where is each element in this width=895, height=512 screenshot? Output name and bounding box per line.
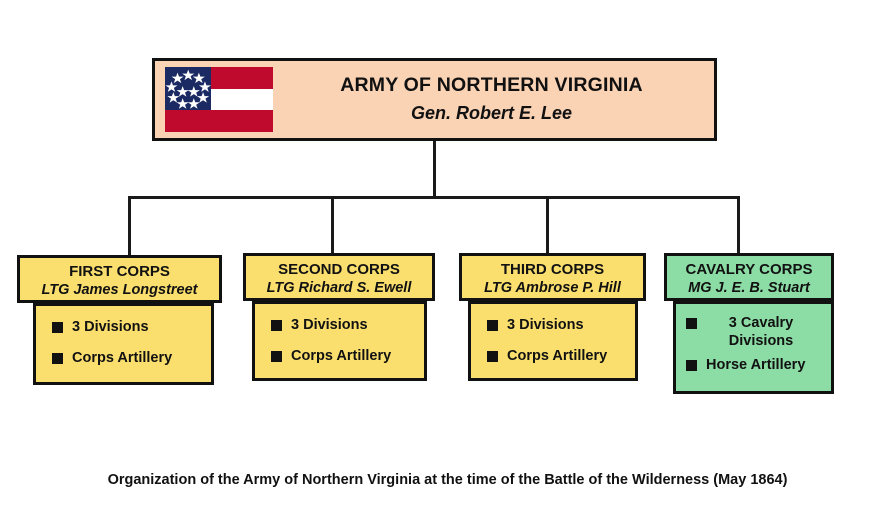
unit-header-second-corps[interactable]: SECOND CORPS LTG Richard S. Ewell (243, 253, 435, 301)
list-item: 3 Divisions (42, 318, 205, 336)
bullet-square-icon (487, 351, 498, 362)
unit-body-third-corps[interactable]: 3 Divisions Corps Artillery (468, 301, 638, 381)
list-item-label: Corps Artillery (507, 347, 607, 365)
org-chart: ARMY OF NORTHERN VIRGINIA Gen. Robert E.… (0, 0, 895, 512)
army-commander: Gen. Robert E. Lee (277, 102, 706, 126)
list-item-label: 3 Divisions (291, 316, 368, 334)
connector-root-stem (433, 141, 436, 199)
unit-header-third-corps[interactable]: THIRD CORPS LTG Ambrose P. Hill (459, 253, 646, 301)
unit-header-first-corps[interactable]: FIRST CORPS LTG James Longstreet (17, 255, 222, 303)
connector-drop-second-corps (331, 196, 334, 256)
unit-name: FIRST CORPS (24, 263, 215, 281)
chart-caption: Organization of the Army of Northern Vir… (0, 472, 895, 488)
unit-name: CAVALRY CORPS (671, 261, 827, 279)
unit-body-first-corps[interactable]: 3 Divisions Corps Artillery (33, 303, 214, 385)
unit-commander: LTG Richard S. Ewell (250, 280, 428, 298)
unit-name: SECOND CORPS (250, 261, 428, 279)
connector-horizontal-bus (128, 196, 740, 199)
unit-header-cavalry-corps[interactable]: CAVALRY CORPS MG J. E. B. Stuart (664, 253, 834, 301)
connector-drop-third-corps (546, 196, 549, 256)
list-item-label: 3 Divisions (72, 318, 149, 336)
list-item-label: Corps Artillery (291, 347, 391, 365)
list-item-label: Horse Artillery (706, 356, 805, 374)
bullet-square-icon (52, 353, 63, 364)
bullet-square-icon (686, 318, 697, 329)
bullet-square-icon (686, 360, 697, 371)
unit-commander: LTG Ambrose P. Hill (466, 280, 639, 298)
bullet-square-icon (52, 322, 63, 333)
connector-drop-cavalry-corps (737, 196, 740, 256)
list-item-label: 3 Cavalry Divisions (706, 314, 816, 350)
unit-commander: MG J. E. B. Stuart (671, 280, 827, 298)
unit-body-cavalry-corps[interactable]: 3 Cavalry Divisions Horse Artillery (673, 301, 834, 394)
unit-body-second-corps[interactable]: 3 Divisions Corps Artillery (252, 301, 427, 381)
connector-drop-first-corps (128, 196, 131, 256)
list-item: Corps Artillery (261, 347, 418, 365)
list-item: 3 Divisions (261, 316, 418, 334)
list-item: Corps Artillery (477, 347, 629, 365)
bullet-square-icon (271, 351, 282, 362)
list-item: 3 Divisions (477, 316, 629, 334)
bullet-square-icon (487, 320, 498, 331)
army-title: ARMY OF NORTHERN VIRGINIA (277, 73, 706, 99)
army-root-text: ARMY OF NORTHERN VIRGINIA Gen. Robert E.… (273, 73, 714, 125)
list-item-label: 3 Divisions (507, 316, 584, 334)
list-item: 3 Cavalry Divisions (682, 314, 825, 350)
unit-name: THIRD CORPS (466, 261, 639, 279)
bullet-square-icon (271, 320, 282, 331)
list-item-label: Corps Artillery (72, 349, 172, 367)
confederate-stars-and-bars-flag-icon (165, 67, 273, 132)
flag-canton (165, 67, 211, 110)
list-item: Corps Artillery (42, 349, 205, 367)
list-item: Horse Artillery (682, 356, 825, 374)
unit-commander: LTG James Longstreet (24, 282, 215, 300)
army-root-node[interactable]: ARMY OF NORTHERN VIRGINIA Gen. Robert E.… (152, 58, 717, 141)
